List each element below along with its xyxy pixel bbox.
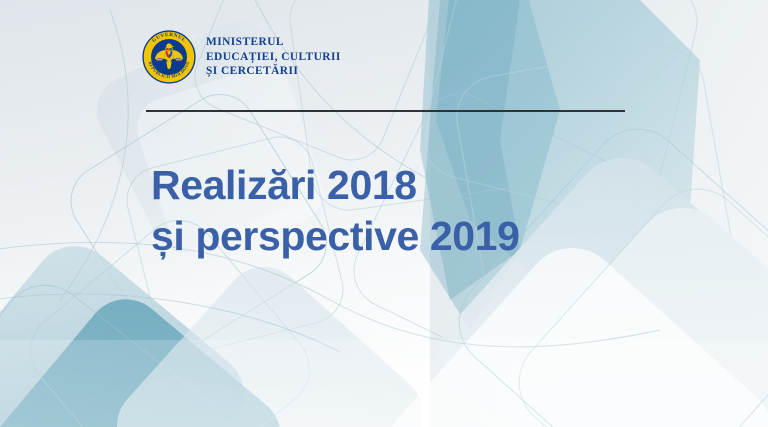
slide-title-line-1: Realizări 2018 [151,160,520,211]
slide-title: Realizări 2018 și perspective 2019 [151,160,520,262]
ministry-name-line-3: ȘI CERCETĂRII [206,64,341,79]
slide-title-line-2: și perspective 2019 [151,211,520,262]
title-slide: GUVERNUL REPUBLICII MOLDOVA [0,0,768,427]
moldova-government-seal-icon: GUVERNUL REPUBLICII MOLDOVA [142,30,196,84]
ministry-logo-lockup: GUVERNUL REPUBLICII MOLDOVA [142,30,341,84]
moldova-shield [166,48,172,59]
ministry-name-line-1: MINISTERUL [206,35,341,50]
header-divider-rule [146,110,625,112]
ministry-name-line-2: EDUCAȚIEI, CULTURII [206,50,341,65]
ministry-name-block: MINISTERUL EDUCAȚIEI, CULTURII ȘI CERCET… [206,35,341,79]
